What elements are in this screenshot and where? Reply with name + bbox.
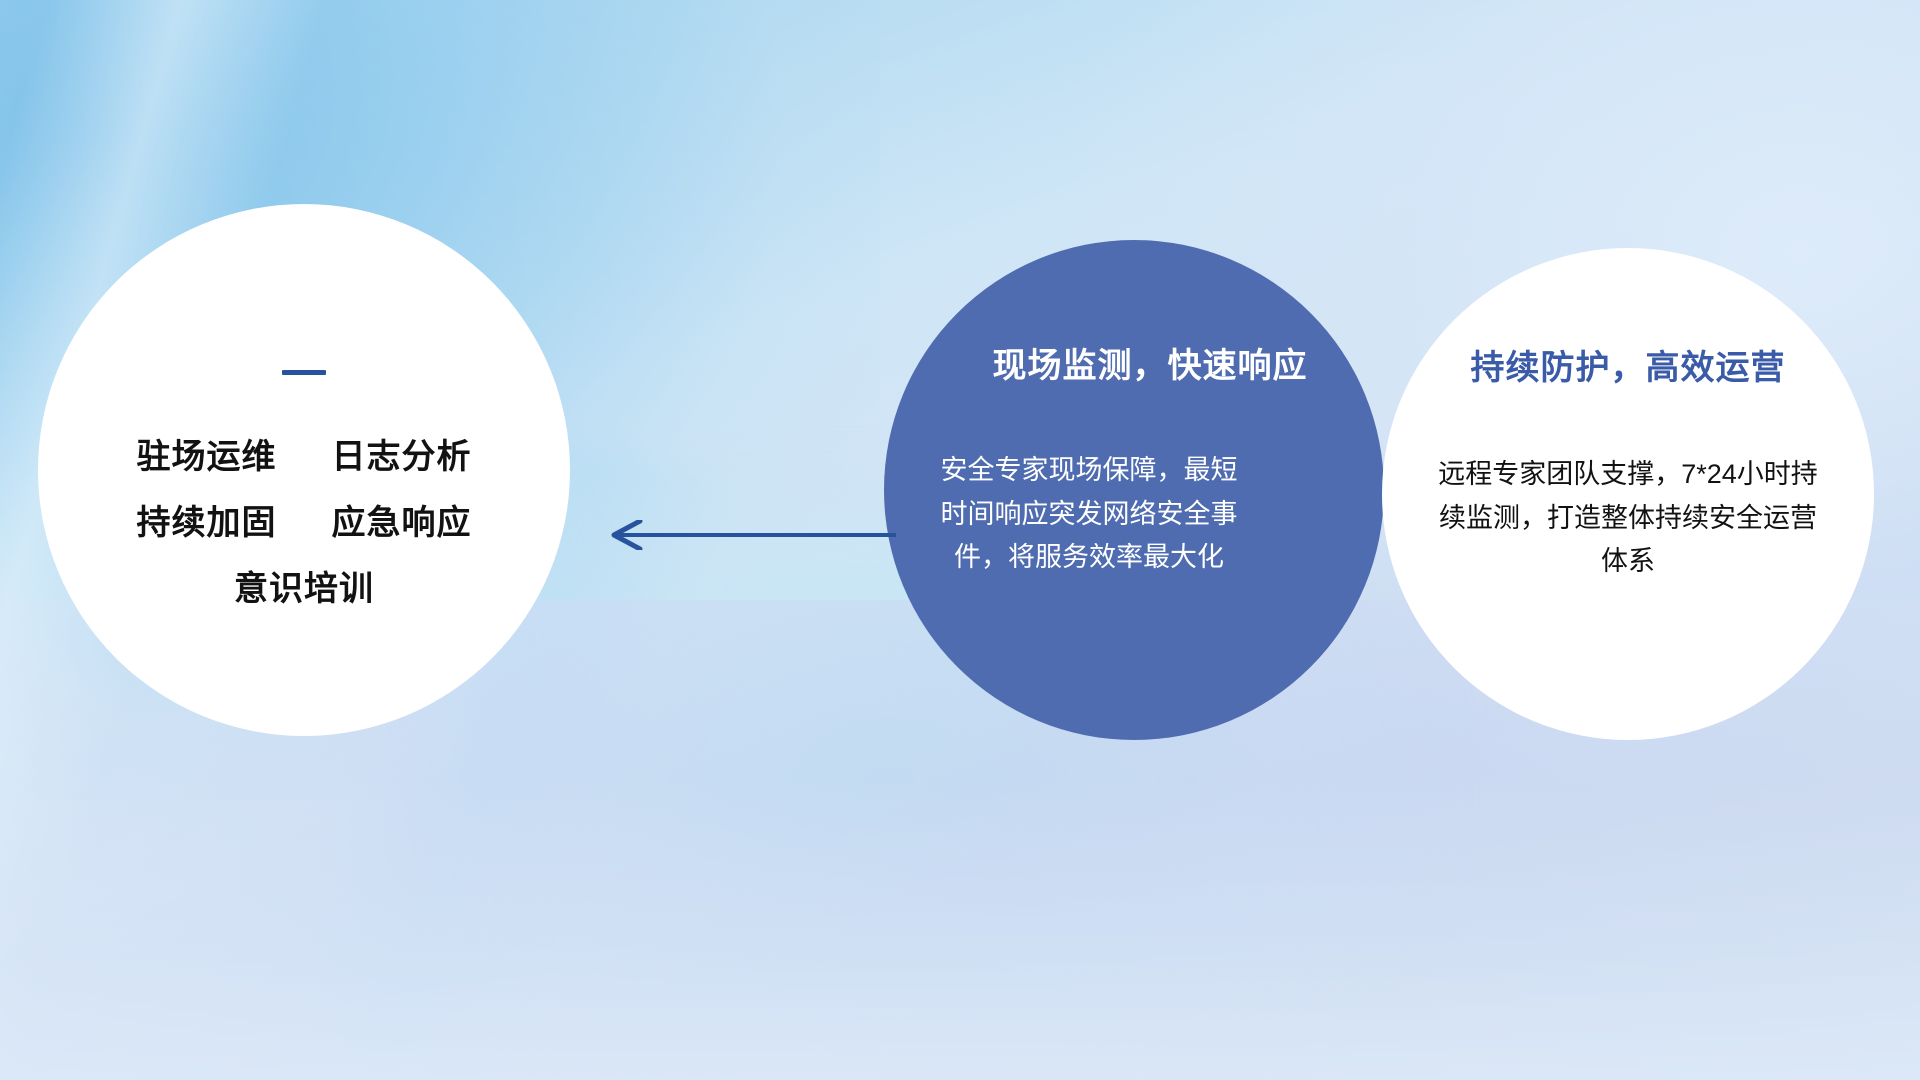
services-circle[interactable]: 驻场运维 日志分析 持续加固 应急响应 意识培训 <box>38 204 570 736</box>
onsite-circle-body: 安全专家现场保障，最短时间响应突发网络安全事件，将服务效率最大化 <box>939 449 1239 580</box>
service-tag-continuous-hardening: 持续加固 <box>137 504 277 542</box>
service-tag-log-analysis: 日志分析 <box>331 438 471 476</box>
services-row: 驻场运维 日志分析 <box>38 437 570 477</box>
service-tag-onsite-ops: 驻场运维 <box>137 438 277 476</box>
continuous-protection-circle[interactable]: 持续防护，高效运营 远程专家团队支撑，7*24小时持续监测，打造整体持续安全运营… <box>1382 248 1874 740</box>
divider-dash-icon <box>282 370 326 375</box>
continuous-circle-title: 持续防护，高效运营 <box>1406 340 1850 389</box>
continuous-circle-body: 远程专家团队支撑，7*24小时持续监测，打造整体持续安全运营体系 <box>1437 453 1819 584</box>
onsite-circle-title: 现场监测，快速响应 <box>929 338 1371 387</box>
service-tag-awareness-training: 意识培训 <box>38 569 570 609</box>
background-bottom-fade <box>0 780 1920 1080</box>
service-tag-emergency-response: 应急响应 <box>331 504 471 542</box>
continuous-circle-content: 持续防护，高效运营 远程专家团队支撑，7*24小时持续监测，打造整体持续安全运营… <box>1382 340 1874 584</box>
services-row: 持续加固 应急响应 <box>38 503 570 543</box>
onsite-circle-content: 现场监测，快速响应 安全专家现场保障，最短时间响应突发网络安全事件，将服务效率最… <box>879 338 1389 580</box>
services-circle-content: 驻场运维 日志分析 持续加固 应急响应 意识培训 <box>38 370 570 609</box>
flow-arrow-left-icon <box>596 520 896 550</box>
onsite-monitoring-circle[interactable]: 现场监测，快速响应 安全专家现场保障，最短时间响应突发网络安全事件，将服务效率最… <box>884 240 1384 740</box>
infographic-canvas: 驻场运维 日志分析 持续加固 应急响应 意识培训 现场监测，快速响应 安全专家现… <box>0 0 1920 1080</box>
